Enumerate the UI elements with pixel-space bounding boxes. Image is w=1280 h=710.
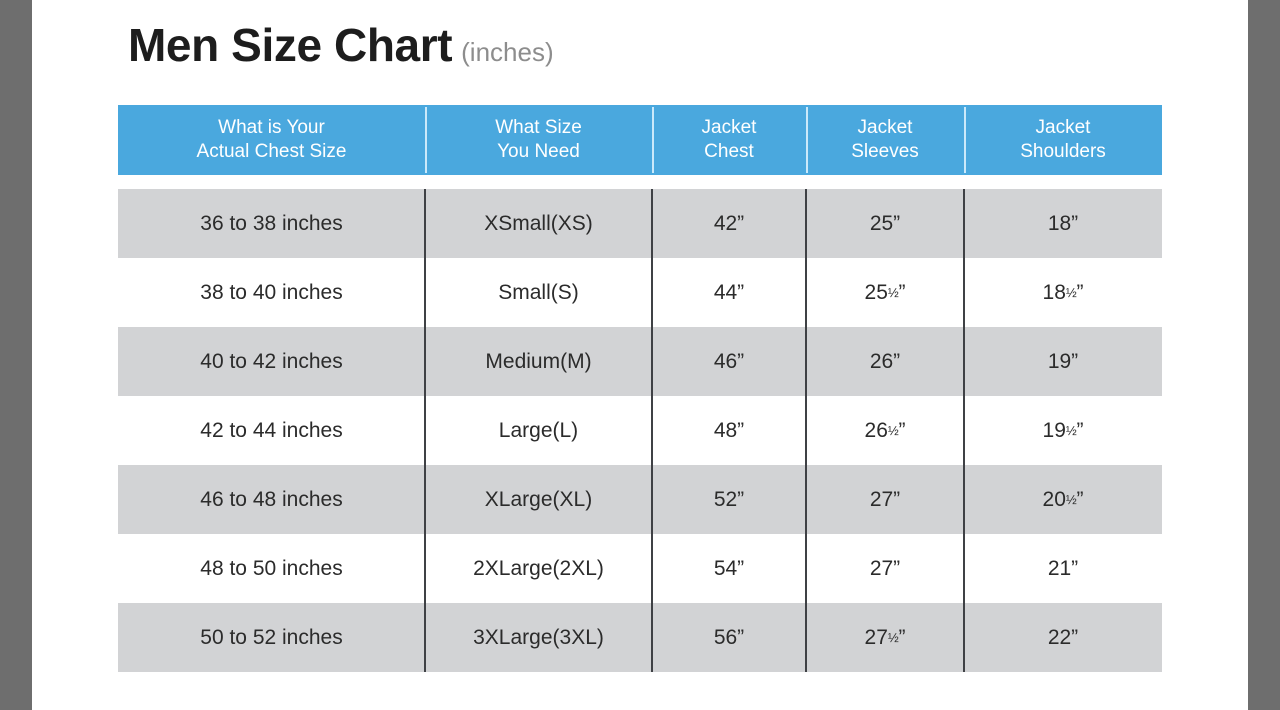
cell-jacket-chest: 46”	[652, 327, 806, 396]
cell-size: XLarge(XL)	[425, 465, 652, 534]
cell-chest-range: 40 to 42 inches	[118, 327, 425, 396]
table-row: 36 to 38 inches XSmall(XS) 42” 25” 18”	[118, 189, 1162, 258]
table-row: 38 to 40 inches Small(S) 44” 25½” 18½”	[118, 258, 1162, 327]
letterbox-bar-right	[1248, 0, 1280, 710]
cell-jacket-sleeves: 25½”	[806, 258, 964, 327]
cell-jacket-shoulders: 18”	[964, 189, 1162, 258]
cell-chest-range: 42 to 44 inches	[118, 396, 425, 465]
cell-size: XSmall(XS)	[425, 189, 652, 258]
cell-jacket-chest: 44”	[652, 258, 806, 327]
cell-jacket-sleeves: 27”	[806, 534, 964, 603]
size-chart-table: What is Your Actual Chest Size What Size…	[118, 105, 1162, 672]
column-header-line2: You Need	[497, 140, 580, 164]
cell-jacket-shoulders: 19½”	[964, 396, 1162, 465]
cell-jacket-sleeves: 26”	[806, 327, 964, 396]
page-title-units: (inches)	[461, 39, 553, 65]
table-row: 48 to 50 inches 2XLarge(2XL) 54” 27” 21”	[118, 534, 1162, 603]
cell-chest-range: 38 to 40 inches	[118, 258, 425, 327]
column-header-line2: Sleeves	[851, 140, 919, 164]
column-header-jacket-sleeves: Jacket Sleeves	[806, 105, 964, 175]
cell-jacket-shoulders: 20½”	[964, 465, 1162, 534]
cell-jacket-sleeves: 25”	[806, 189, 964, 258]
table-row: 50 to 52 inches 3XLarge(3XL) 56” 27½” 22…	[118, 603, 1162, 672]
page-title: Men Size Chart (inches)	[128, 22, 554, 68]
column-header-line2: Shoulders	[1020, 140, 1106, 164]
cell-size: 2XLarge(2XL)	[425, 534, 652, 603]
cell-jacket-shoulders: 18½”	[964, 258, 1162, 327]
cell-jacket-chest: 42”	[652, 189, 806, 258]
column-header-size-you-need: What Size You Need	[425, 105, 652, 175]
cell-jacket-shoulders: 21”	[964, 534, 1162, 603]
cell-chest-range: 36 to 38 inches	[118, 189, 425, 258]
table-row: 40 to 42 inches Medium(M) 46” 26” 19”	[118, 327, 1162, 396]
cell-jacket-sleeves: 27½”	[806, 603, 964, 672]
cell-jacket-chest: 54”	[652, 534, 806, 603]
column-header-line1: Jacket	[702, 116, 757, 140]
column-header-line1: What is Your	[218, 116, 325, 140]
cell-size: 3XLarge(3XL)	[425, 603, 652, 672]
cell-jacket-shoulders: 22”	[964, 603, 1162, 672]
column-header-actual-chest-size: What is Your Actual Chest Size	[118, 105, 425, 175]
table-header-row: What is Your Actual Chest Size What Size…	[118, 105, 1162, 175]
table-row: 42 to 44 inches Large(L) 48” 26½” 19½”	[118, 396, 1162, 465]
cell-jacket-shoulders: 19”	[964, 327, 1162, 396]
table-row: 46 to 48 inches XLarge(XL) 52” 27” 20½”	[118, 465, 1162, 534]
cell-size: Small(S)	[425, 258, 652, 327]
cell-chest-range: 50 to 52 inches	[118, 603, 425, 672]
page-title-main: Men Size Chart	[128, 22, 452, 68]
cell-size: Large(L)	[425, 396, 652, 465]
cell-chest-range: 46 to 48 inches	[118, 465, 425, 534]
cell-jacket-chest: 52”	[652, 465, 806, 534]
table-body: 36 to 38 inches XSmall(XS) 42” 25” 18” 3…	[118, 189, 1162, 672]
slide-canvas: Men Size Chart (inches) What is Your Act…	[32, 0, 1248, 710]
cell-size: Medium(M)	[425, 327, 652, 396]
cell-jacket-chest: 48”	[652, 396, 806, 465]
column-header-line2: Chest	[704, 140, 754, 164]
cell-jacket-sleeves: 27”	[806, 465, 964, 534]
column-header-jacket-shoulders: Jacket Shoulders	[964, 105, 1162, 175]
cell-jacket-chest: 56”	[652, 603, 806, 672]
letterbox-bar-left	[0, 0, 32, 710]
column-header-line1: What Size	[495, 116, 582, 140]
cell-chest-range: 48 to 50 inches	[118, 534, 425, 603]
column-header-jacket-chest: Jacket Chest	[652, 105, 806, 175]
cell-jacket-sleeves: 26½”	[806, 396, 964, 465]
column-header-line1: Jacket	[1036, 116, 1091, 140]
column-header-line1: Jacket	[858, 116, 913, 140]
column-header-line2: Actual Chest Size	[197, 140, 347, 164]
